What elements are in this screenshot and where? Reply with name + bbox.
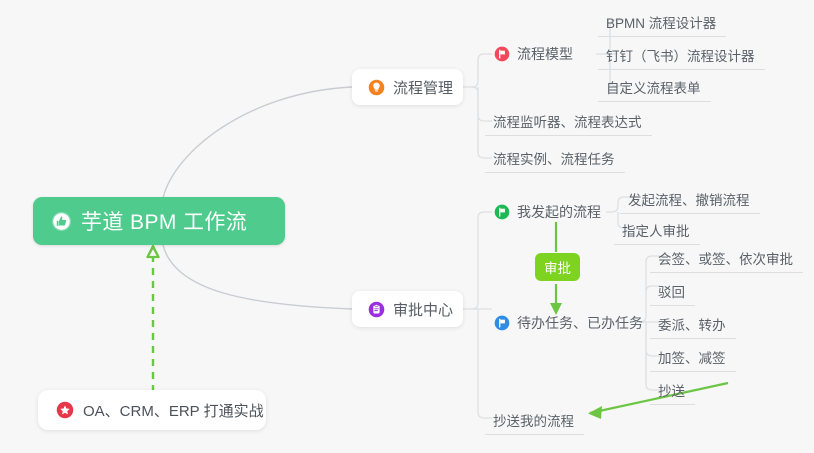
leaf-process-instance[interactable]: 流程实例、流程任务 [485,144,625,173]
leaf-add-remove-sign[interactable]: 加签、减签 [650,343,736,372]
label-process-model: 流程模型 [517,44,573,64]
leaf-start-cancel-process[interactable]: 发起流程、撤销流程 [620,185,760,214]
edge-pm-trunk [463,59,478,153]
leaf-delegate-transfer[interactable]: 委派、转办 [650,310,736,339]
edge-root-to-approval-center [163,245,352,309]
branch-node-process-management[interactable]: 流程管理 [352,69,463,105]
root-label: 芋道 BPM 工作流 [81,206,247,236]
callout-card-integration-label: OA、CRM、ERP 打通实战 [83,400,264,421]
edge-ac-stem-2 [478,309,492,418]
leaf-bpmn-designer[interactable]: BPMN 流程设计器 [598,8,726,37]
root-node[interactable]: 芋道 BPM 工作流 [33,197,285,245]
lightbulb-icon [368,79,385,96]
node-process-model[interactable]: 流程模型 [492,39,581,69]
leaf-dingtalk-designer[interactable]: 钉钉（飞书）流程设计器 [598,41,765,70]
mindmap-canvas: 芋道 BPM 工作流 流程管理 流程模型 BPMN 流程设计器 钉钉（飞书）流程… [0,0,814,453]
annotation-tag-approval: 审批 [535,253,580,281]
branch-label-process-management: 流程管理 [393,77,453,98]
leaf-process-listener[interactable]: 流程监听器、流程表达式 [485,107,652,136]
leaf-cc[interactable]: 抄送 [650,376,695,405]
label-my-initiated: 我发起的流程 [517,202,601,222]
flag-icon [494,46,510,62]
node-my-initiated[interactable]: 我发起的流程 [492,197,609,227]
edge-pm-stem-0 [478,54,492,81]
leaf-custom-form[interactable]: 自定义流程表单 [598,73,711,102]
annotation-tag-approval-label: 审批 [544,257,571,277]
callout-card-integration[interactable]: OA、CRM、ERP 打通实战 [38,390,266,430]
clipboard-icon [368,301,385,318]
leaf-cc-to-me[interactable]: 抄送我的流程 [485,406,584,435]
label-todo-done-tasks: 待办任务、已办任务 [517,313,643,333]
star-icon [56,401,74,419]
leaf-assignee-approval[interactable]: 指定人审批 [614,216,700,245]
branch-label-approval-center: 审批中心 [393,299,453,320]
thumbs-up-icon [51,211,72,232]
flag-icon [494,204,510,220]
edge-root-to-process-management [163,87,352,198]
leaf-reject[interactable]: 驳回 [650,277,695,306]
branch-node-approval-center[interactable]: 审批中心 [352,291,463,327]
flag-icon [494,315,510,331]
edge-ac-stem-0 [463,212,492,309]
annotation-arrow-integration [148,246,159,392]
leaf-countersign[interactable]: 会签、或签、依次审批 [650,244,803,273]
node-todo-done-tasks[interactable]: 待办任务、已办任务 [492,308,651,338]
